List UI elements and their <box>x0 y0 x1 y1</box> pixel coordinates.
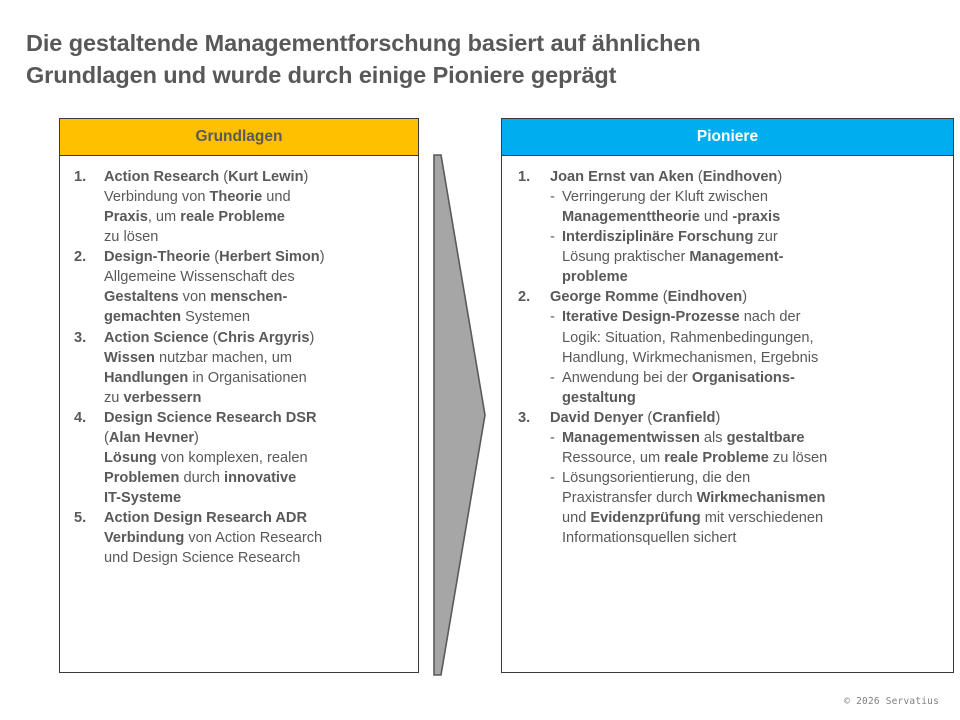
sub-bullet-line: -Verringerung der Kluft zwischen <box>550 187 947 207</box>
text-run-bold: Action Science <box>104 330 209 346</box>
text-run: Handlung, Wirkmechanismen, Ergebnis <box>562 350 818 366</box>
text-run: ) <box>309 330 314 346</box>
list-item-line: und Design Science Research <box>104 548 412 568</box>
text-run: Allgemeine Wissenschaft des <box>104 269 295 285</box>
text-run-bold: reale Probleme <box>664 450 769 466</box>
sub-bullet-line: -Managementwissen als gestaltbare <box>550 428 947 448</box>
text-run: Ressource, um <box>562 450 664 466</box>
text-run: und <box>262 189 290 205</box>
text-run-bold: Action Design Research ADR <box>104 510 307 526</box>
text-run: von komplexen, realen <box>157 450 308 466</box>
list-item: 2.Design-Theorie (Herbert Simon)Allgemei… <box>66 247 412 327</box>
page-title: Die gestaltende Managementforschung basi… <box>26 28 906 91</box>
list-item: 3.David Denyer (Cranfield)-Managementwis… <box>508 408 947 548</box>
text-run: zur <box>753 229 777 245</box>
text-run-bold: Verbindung <box>104 530 184 546</box>
list-item-line: Gestaltens von menschen- <box>104 287 412 307</box>
text-run: ) <box>320 249 325 265</box>
text-run-bold: Organisations- <box>692 370 795 386</box>
text-run: zu lösen <box>769 450 827 466</box>
text-run: Praxistransfer durch <box>562 490 697 506</box>
text-run: von Action Research <box>184 530 322 546</box>
text-run-bold: Wirkmechanismen <box>697 490 826 506</box>
flow-arrow-shape <box>434 155 485 675</box>
text-run-bold: Handlungen <box>104 370 188 386</box>
list-item: 1.Action Research (Kurt Lewin)Verbindung… <box>66 167 412 247</box>
text-run-bold: Action Research <box>104 169 219 185</box>
list-item-line: Design-Theorie (Herbert Simon) <box>104 247 412 267</box>
text-run-bold: menschen- <box>210 289 287 305</box>
list-item-line: Informationsquellen sichert <box>550 528 947 548</box>
page-title-line-2: Grundlagen und wurde durch einige Pionie… <box>26 60 906 92</box>
dash-bullet-icon: - <box>550 428 555 448</box>
text-run: und <box>562 510 590 526</box>
dash-bullet-icon: - <box>550 187 555 207</box>
copyright-notice: © 2026 Servatius <box>844 696 939 707</box>
list-item-line: gemachten Systemen <box>104 307 412 327</box>
sub-bullet-line: -Interdisziplinäre Forschung zur <box>550 227 947 247</box>
text-run-bold: Gestaltens <box>104 289 179 305</box>
list-item-line: zu verbessern <box>104 388 412 408</box>
grundlagen-list: 1.Action Research (Kurt Lewin)Verbindung… <box>66 167 412 568</box>
text-run-bold: Managementwissen <box>562 430 700 446</box>
text-run-bold: Managementtheorie <box>562 209 700 225</box>
text-run: Lösung praktischer <box>562 249 689 265</box>
text-run-bold: Design Science Research DSR <box>104 410 317 426</box>
text-run: zu <box>104 390 123 406</box>
list-item-number: 2. <box>74 247 86 267</box>
list-item-number: 5. <box>74 508 86 528</box>
pioniere-list: 1.Joan Ernst van Aken (Eindhoven)-Verrin… <box>508 167 947 548</box>
text-run-bold: -praxis <box>732 209 780 225</box>
list-item-line: David Denyer (Cranfield) <box>550 408 947 428</box>
text-run-bold: David Denyer <box>550 410 643 426</box>
text-run-bold: reale Probleme <box>180 209 285 225</box>
dash-bullet-icon: - <box>550 307 555 327</box>
dash-bullet-icon: - <box>550 468 555 488</box>
text-run-bold: Problemen <box>104 470 179 486</box>
text-run: ( <box>643 410 652 426</box>
list-item: 3.Action Science (Chris Argyris)Wissen n… <box>66 328 412 408</box>
panel-pioniere: Pioniere 1.Joan Ernst van Aken (Eindhove… <box>501 118 954 673</box>
list-item-line: Action Research (Kurt Lewin) <box>104 167 412 187</box>
list-item-line: Ressource, um reale Probleme zu lösen <box>550 448 947 468</box>
list-item: 1.Joan Ernst van Aken (Eindhoven)-Verrin… <box>508 167 947 287</box>
list-item-number: 3. <box>518 408 530 428</box>
text-run-bold: verbessern <box>123 390 201 406</box>
text-run: und Design Science Research <box>104 550 300 566</box>
list-item: 2.George Romme (Eindhoven)-Iterative Des… <box>508 287 947 407</box>
list-item-line: Problemen durch innovative <box>104 468 412 488</box>
list-item-line: Praxis, um reale Probleme <box>104 207 412 227</box>
text-run: ) <box>304 169 309 185</box>
list-item-line: IT-Systeme <box>104 488 412 508</box>
list-item-line: und Evidenzprüfung mit verschiedenen <box>550 508 947 528</box>
panel-grundlagen: Grundlagen 1.Action Research (Kurt Lewin… <box>59 118 419 673</box>
text-run-bold: gestaltbare <box>727 430 805 446</box>
text-run-bold: Eindhoven <box>668 289 743 305</box>
text-run: Anwendung bei der <box>562 370 692 386</box>
text-run-bold: Management- <box>689 249 783 265</box>
list-item-line: Wissen nutzbar machen, um <box>104 348 412 368</box>
text-run: Verbindung von <box>104 189 209 205</box>
text-run-bold: Theorie <box>209 189 262 205</box>
text-run-bold: Iterative Design-Prozesse <box>562 309 740 325</box>
panel-pioniere-header: Pioniere <box>502 119 953 156</box>
list-item-line: Allgemeine Wissenschaft des <box>104 267 412 287</box>
list-item-number: 1. <box>518 167 530 187</box>
slide-canvas: Die gestaltende Managementforschung basi… <box>0 0 960 720</box>
text-run-bold: innovative <box>224 470 296 486</box>
page-title-line-1: Die gestaltende Managementforschung basi… <box>26 28 906 60</box>
list-item-line: Praxistransfer durch Wirkmechanismen <box>550 488 947 508</box>
list-item-line: Design Science Research DSR <box>104 408 412 428</box>
text-run-bold: Interdisziplinäre Forschung <box>562 229 753 245</box>
text-run: Verringerung der Kluft zwischen <box>562 189 768 205</box>
panel-grundlagen-body: 1.Action Research (Kurt Lewin)Verbindung… <box>60 156 418 568</box>
text-run: Informationsquellen sichert <box>562 530 736 546</box>
panel-pioniere-body: 1.Joan Ernst van Aken (Eindhoven)-Verrin… <box>502 156 953 548</box>
list-item-line: Verbindung von Action Research <box>104 528 412 548</box>
list-item-line: Action Design Research ADR <box>104 508 412 528</box>
text-run: nutzbar machen, um <box>155 350 292 366</box>
list-item-line: zu lösen <box>104 227 412 247</box>
text-run-bold: gestaltung <box>562 390 636 406</box>
list-item-line: Logik: Situation, Rahmenbedingungen, <box>550 328 947 348</box>
text-run-bold: gemachten <box>104 309 181 325</box>
text-run-bold: Wissen <box>104 350 155 366</box>
text-run-bold: IT-Systeme <box>104 490 181 506</box>
list-item-line: Managementtheorie und -praxis <box>550 207 947 227</box>
text-run: ( <box>210 249 219 265</box>
list-item-line: probleme <box>550 267 947 287</box>
text-run: Lösungsorientierung, die den <box>562 470 750 486</box>
text-run: ) <box>742 289 747 305</box>
list-item-line: Lösung praktischer Management- <box>550 247 947 267</box>
text-run: zu lösen <box>104 229 158 245</box>
flow-arrow-icon <box>432 150 494 680</box>
list-item: 5.Action Design Research ADRVerbindung v… <box>66 508 412 568</box>
text-run-bold: Alan Hevner <box>109 430 194 446</box>
text-run: und <box>700 209 732 225</box>
list-item-line: George Romme (Eindhoven) <box>550 287 947 307</box>
text-run: ( <box>694 169 703 185</box>
text-run: ( <box>209 330 218 346</box>
dash-bullet-icon: - <box>550 368 555 388</box>
text-run-bold: Design-Theorie <box>104 249 210 265</box>
text-run: ) <box>194 430 199 446</box>
text-run: ) <box>715 410 720 426</box>
text-run-bold: Kurt Lewin <box>228 169 303 185</box>
text-run-bold: Eindhoven <box>703 169 778 185</box>
text-run-bold: Praxis <box>104 209 148 225</box>
text-run: Systemen <box>181 309 250 325</box>
text-run: durch <box>179 470 224 486</box>
text-run: ) <box>777 169 782 185</box>
list-item-line: Handlung, Wirkmechanismen, Ergebnis <box>550 348 947 368</box>
text-run-bold: probleme <box>562 269 628 285</box>
dash-bullet-icon: - <box>550 227 555 247</box>
text-run: Logik: Situation, Rahmenbedingungen, <box>562 330 814 346</box>
panel-grundlagen-header: Grundlagen <box>60 119 418 156</box>
list-item-number: 1. <box>74 167 86 187</box>
list-item-line: Handlungen in Organisationen <box>104 368 412 388</box>
sub-bullet-line: -Lösungsorientierung, die den <box>550 468 947 488</box>
sub-bullet-line: -Anwendung bei der Organisations- <box>550 368 947 388</box>
text-run: als <box>700 430 727 446</box>
text-run: mit verschiedenen <box>701 510 824 526</box>
list-item-line: gestaltung <box>550 388 947 408</box>
list-item-line: Action Science (Chris Argyris) <box>104 328 412 348</box>
text-run: von <box>179 289 211 305</box>
text-run: nach der <box>740 309 801 325</box>
text-run: ( <box>219 169 228 185</box>
text-run-bold: George Romme <box>550 289 659 305</box>
list-item-number: 4. <box>74 408 86 428</box>
text-run-bold: Herbert Simon <box>219 249 320 265</box>
text-run-bold: Chris Argyris <box>218 330 310 346</box>
text-run: , um <box>148 209 180 225</box>
text-run: ( <box>659 289 668 305</box>
list-item-number: 2. <box>518 287 530 307</box>
text-run-bold: Evidenzprüfung <box>590 510 700 526</box>
list-item-line: Joan Ernst van Aken (Eindhoven) <box>550 167 947 187</box>
text-run-bold: Cranfield <box>652 410 715 426</box>
text-run-bold: Lösung <box>104 450 157 466</box>
text-run: in Organisationen <box>188 370 306 386</box>
list-item: 4.Design Science Research DSR(Alan Hevne… <box>66 408 412 508</box>
sub-bullet-line: -Iterative Design-Prozesse nach der <box>550 307 947 327</box>
list-item-line: Verbindung von Theorie und <box>104 187 412 207</box>
list-item-number: 3. <box>74 328 86 348</box>
list-item-line: Lösung von komplexen, realen <box>104 448 412 468</box>
list-item-line: (Alan Hevner) <box>104 428 412 448</box>
text-run-bold: Joan Ernst van Aken <box>550 169 694 185</box>
